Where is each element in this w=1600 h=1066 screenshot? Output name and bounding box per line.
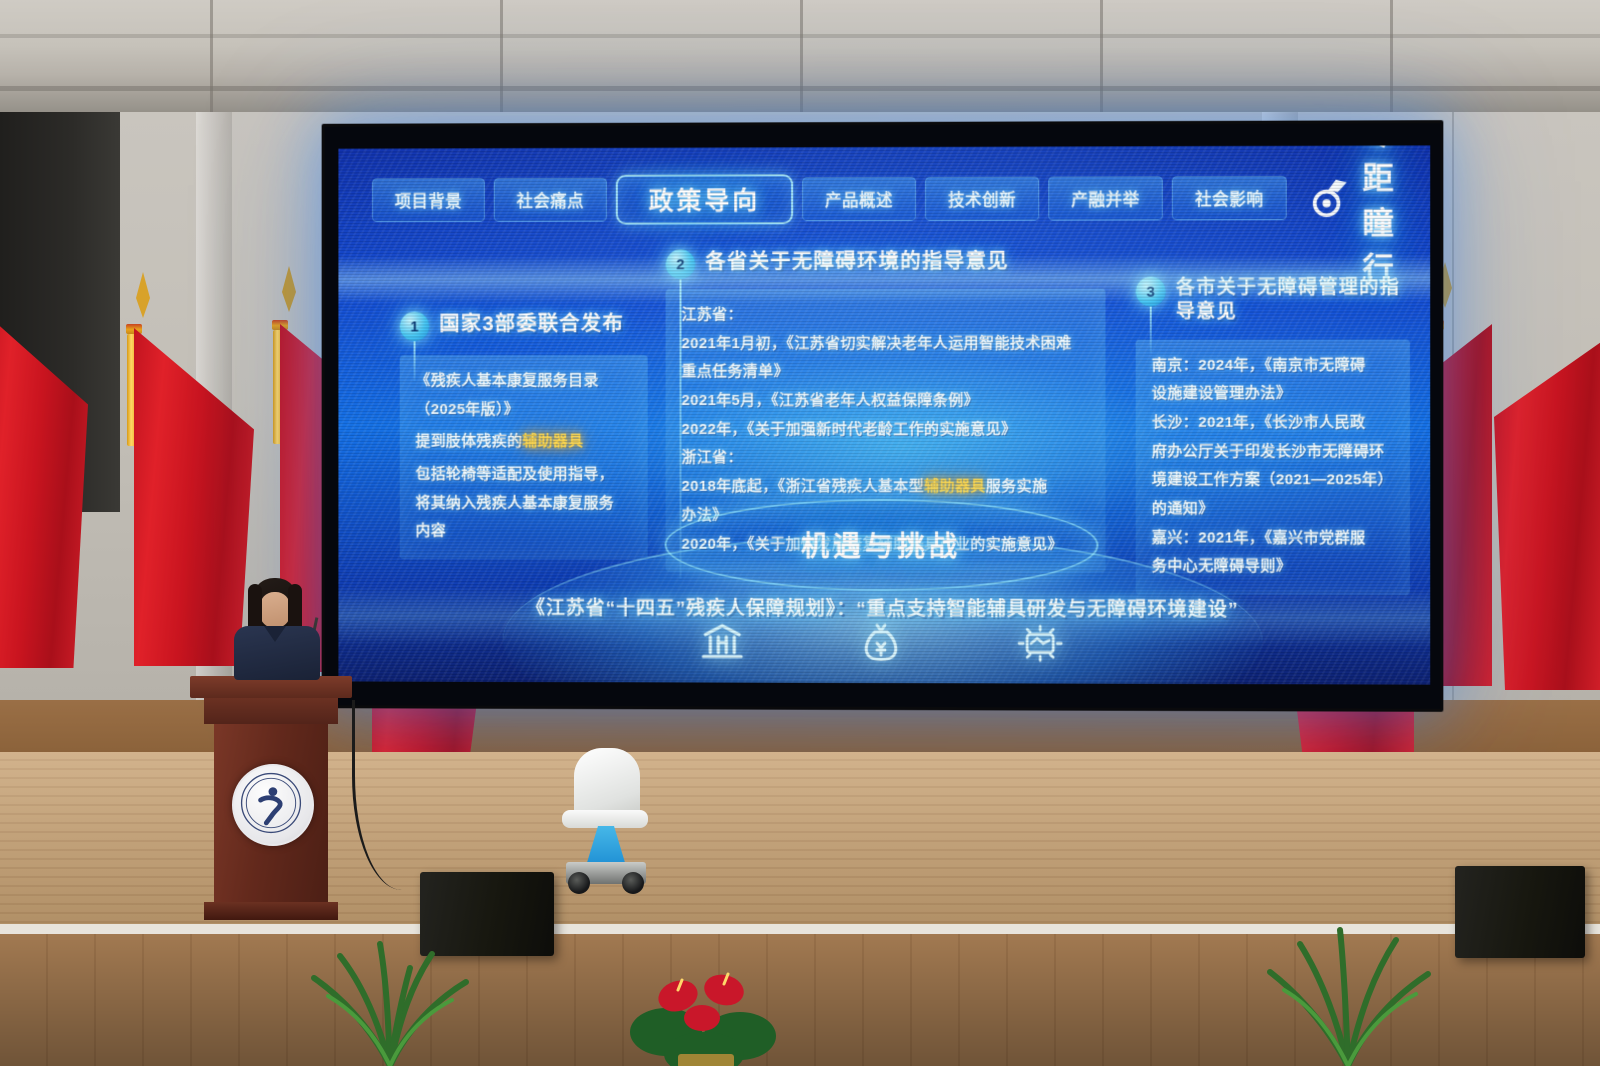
body-line: 包括轮椅等适配及使用指导，	[416, 463, 634, 487]
body-line: （2025年版）》	[416, 398, 634, 422]
body-line: 重点任务清单》	[681, 360, 1091, 384]
body-line: 将其纳入残疾人基本康复服务	[416, 491, 634, 515]
column-title: 各市关于无障碍管理的指导意见	[1176, 276, 1410, 325]
badge-number: 2	[676, 256, 684, 273]
emblem-figure-icon	[234, 766, 308, 840]
column-header: 2 各省关于无障碍环境的指导意见	[666, 249, 1106, 280]
nav-item-industry-finance[interactable]: 产融并举	[1048, 176, 1163, 220]
nav-label: 产品概述	[825, 187, 893, 211]
line-pre: 2018年底起，《浙江省残疾人基本型	[681, 478, 924, 495]
banner-icon-row	[338, 620, 1430, 667]
nav-item-social-pain-points[interactable]: 社会痛点	[494, 178, 607, 222]
step-badge-3: 3	[1136, 277, 1166, 307]
highlight-term: 辅助器具	[924, 478, 986, 495]
body-line: 务中心无障碍导则》	[1152, 555, 1396, 579]
government-building-icon	[699, 621, 745, 663]
ceiling	[0, 0, 1600, 120]
potted-plant	[620, 936, 790, 1066]
led-presentation-screen: 项目背景 社会痛点 政策导向 产品概述 技术创新 产融并举 社会影响	[322, 120, 1444, 712]
body-line: 南京：2024年，《南京市无障碍	[1152, 353, 1396, 377]
nav-item-social-impact[interactable]: 社会影响	[1172, 176, 1287, 220]
school-emblem	[232, 764, 314, 846]
body-line: 长沙：2021年，《长沙市人民政	[1152, 411, 1396, 435]
auditorium-scene: 项目背景 社会痛点 政策导向 产品概述 技术创新 产融并举 社会影响	[0, 0, 1600, 1066]
nav-label: 社会痛点	[517, 188, 584, 212]
slide-canvas: 项目背景 社会痛点 政策导向 产品概述 技术创新 产融并举 社会影响	[338, 145, 1430, 684]
line-pre: 提到肢体残疾的	[416, 433, 523, 450]
nav-item-policy-direction[interactable]: 政策导向	[616, 174, 793, 224]
nav-item-project-background[interactable]: 项目背景	[372, 178, 485, 222]
handshake-icon	[1017, 621, 1063, 665]
money-bag-yuan-icon	[861, 621, 901, 665]
nav-label: 社会影响	[1195, 186, 1264, 210]
highlight-term: 辅助器具	[522, 433, 583, 450]
body-line: 2021年1月初，《江苏省切实解决老年人运用智能技术困难	[681, 331, 1091, 355]
badge-number: 3	[1147, 283, 1155, 300]
slide-navbar: 项目背景 社会痛点 政策导向 产品概述 技术创新 产融并举 社会影响	[372, 176, 1410, 223]
robotic-wheelchair-prototype	[556, 748, 656, 898]
opportunity-challenge-badge: 机遇与挑战	[665, 499, 1099, 592]
body-line: 境建设工作方案（2021—2025年）	[1152, 469, 1396, 493]
column-title: 各省关于无障碍环境的指导意见	[705, 249, 1009, 276]
body-line: 内容	[416, 520, 634, 544]
column-title: 国家3部委联合发布	[439, 311, 624, 337]
presenter	[228, 578, 328, 688]
red-ceremonial-banner	[0, 268, 126, 668]
column-header: 3 各市关于无障碍管理的指导意见	[1136, 276, 1410, 325]
nav-label: 产融并举	[1071, 186, 1139, 210]
column-header: 1 国家3部委联合发布	[400, 311, 648, 341]
body-line-highlighted: 2018年底起，《浙江省残疾人基本型辅助器具服务实施	[681, 475, 1091, 499]
policy-column-national: 1 国家3部委联合发布 《残疾人基本康复服务目录 （2025年版）》 提到肢体残…	[400, 311, 648, 559]
potted-plant	[300, 916, 480, 1066]
body-line: 的通知》	[1152, 497, 1396, 521]
step-badge-1: 1	[400, 312, 430, 342]
flag-spear-tip-icon	[276, 266, 302, 320]
line-post: 服务实施	[986, 478, 1048, 495]
column-body: 《残疾人基本康复服务目录 （2025年版）》 提到肢体残疾的辅助器具 包括轮椅等…	[400, 355, 648, 560]
body-line: 府办公厅关于印发长沙市无障碍环	[1152, 440, 1396, 464]
dracaena-plant-icon	[300, 916, 480, 1066]
nav-label: 政策导向	[649, 181, 761, 217]
red-ceremonial-banner	[1494, 300, 1600, 700]
potted-plant	[1258, 906, 1438, 1066]
ellipse-label: 机遇与挑战	[801, 525, 961, 565]
stage-monitor-speaker	[1455, 866, 1585, 958]
body-line: 2022年，《关于加强新时代老龄工作的实施意见》	[681, 418, 1091, 442]
column-connector	[1150, 307, 1152, 353]
nav-label: 技术创新	[948, 187, 1016, 211]
body-line: 嘉兴：2021年，《嘉兴市党群服	[1152, 526, 1396, 550]
presenter-face	[260, 592, 290, 628]
policy-quote: 《江苏省“十四五”残疾人保障规划》：“重点支持智能辅具研发与无障碍环境建设”	[338, 593, 1430, 622]
nav-item-tech-innovation[interactable]: 技术创新	[925, 177, 1039, 221]
nav-item-product-overview[interactable]: 产品概述	[802, 177, 916, 221]
body-line: 《残疾人基本康复服务目录	[416, 369, 634, 393]
policy-column-municipal: 3 各市关于无障碍管理的指导意见 南京：2024年，《南京市无障碍 设施建设管理…	[1136, 276, 1410, 595]
badge-number: 1	[410, 318, 418, 335]
step-badge-2: 2	[666, 249, 696, 279]
screen-bezel: 项目背景 社会痛点 政策导向 产品概述 技术创新 产融并举 社会影响	[325, 123, 1441, 709]
body-line: 设施建设管理办法》	[1152, 382, 1396, 406]
dracaena-plant-icon	[1258, 906, 1438, 1066]
column-body: 南京：2024年，《南京市无障碍 设施建设管理办法》 长沙：2021年，《长沙市…	[1136, 339, 1410, 595]
column-connector	[414, 341, 416, 381]
body-line: 2021年5月，《江苏省老年人权益保障条例》	[681, 389, 1091, 413]
flag-spear-tip-icon	[130, 272, 156, 326]
nav-label: 项目背景	[395, 188, 462, 212]
body-line: 江苏省：	[681, 303, 1091, 327]
body-line-highlighted: 提到肢体残疾的辅助器具	[416, 430, 634, 454]
anthurium-plant-icon	[620, 936, 790, 1066]
speaker-podium	[196, 676, 346, 928]
body-line: 浙江省：	[681, 446, 1091, 470]
wheelchair-eye-logo-icon	[1310, 178, 1354, 218]
